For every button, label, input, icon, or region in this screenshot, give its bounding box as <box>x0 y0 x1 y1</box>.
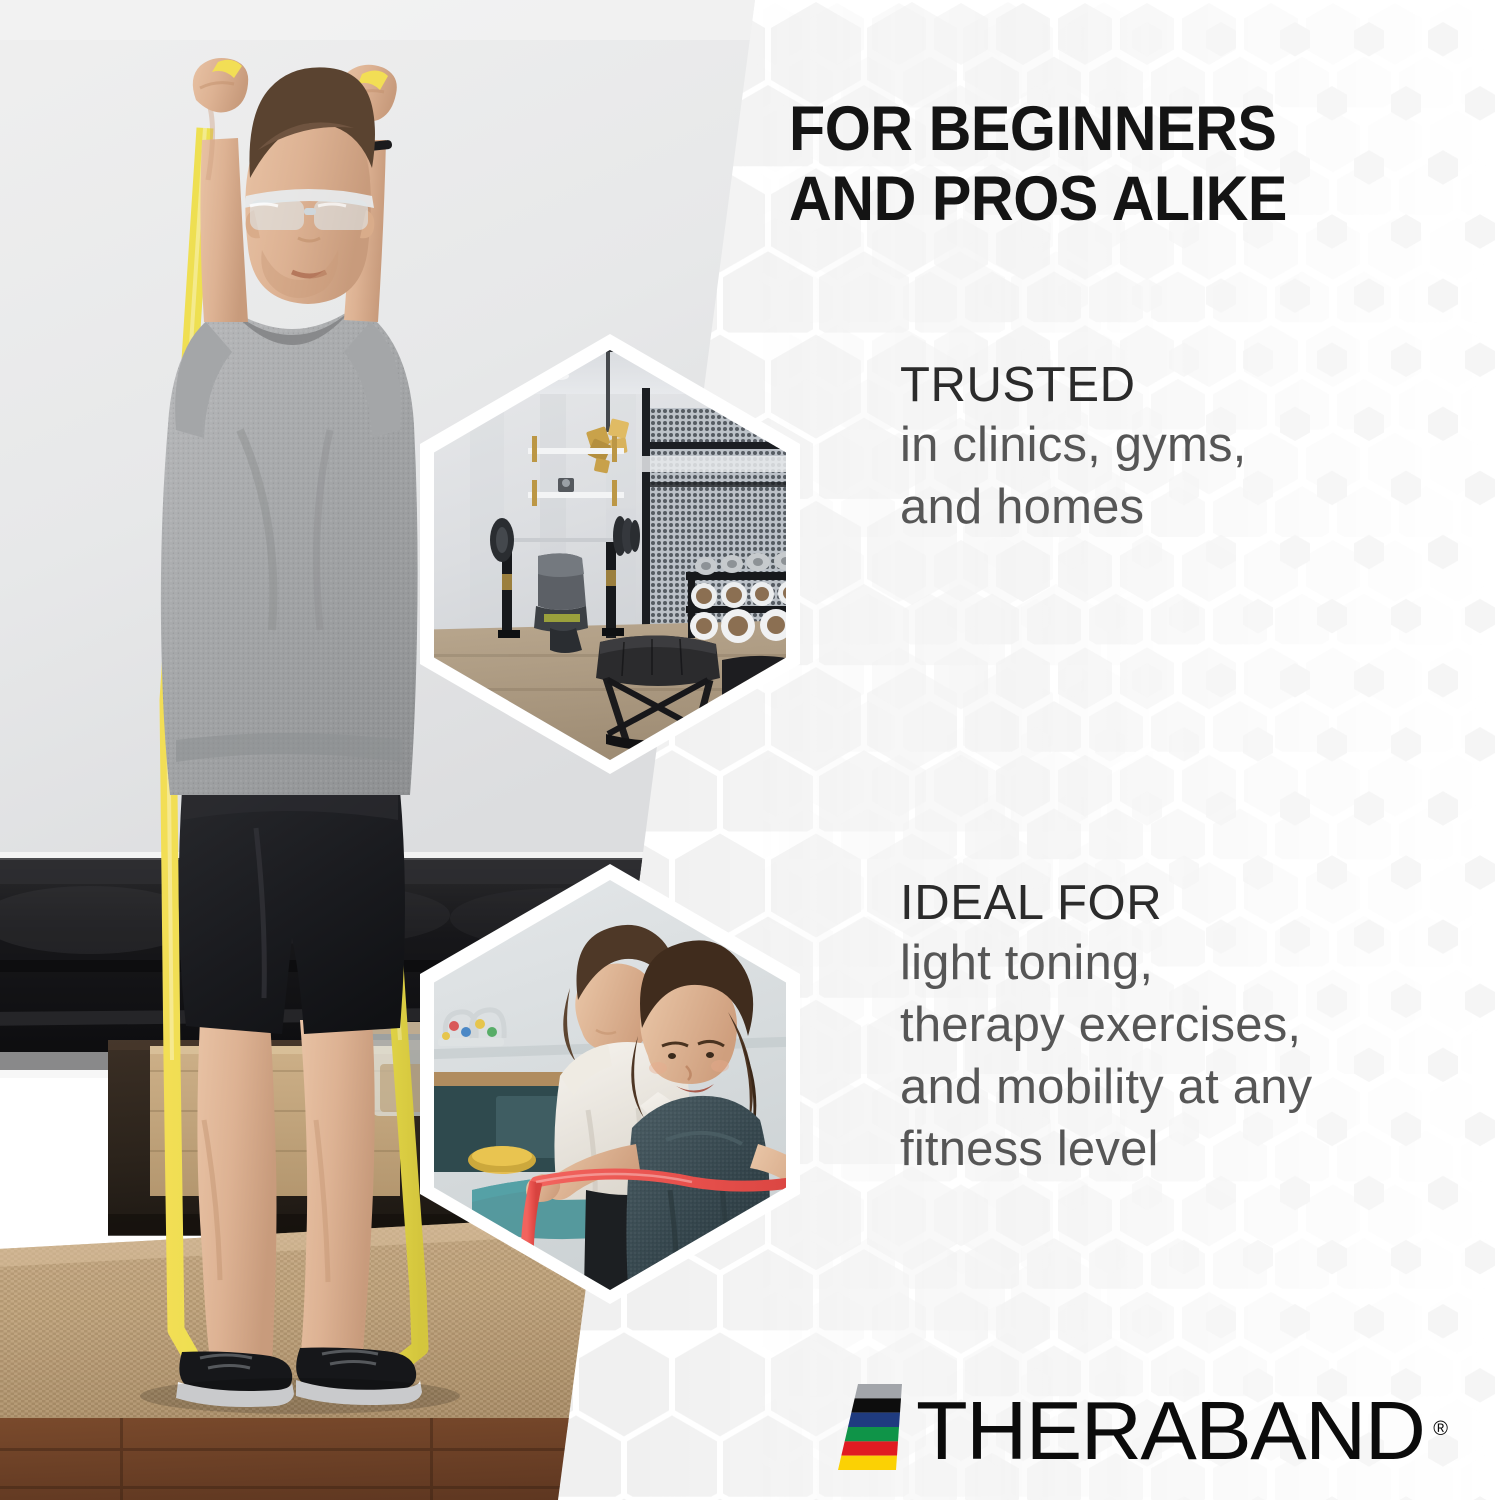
feature-block-trusted: TRUSTED in clinics, gyms, and homes <box>900 356 1246 538</box>
logo-wordmark: THERABAND ® <box>916 1392 1424 1470</box>
feature-title: IDEAL FOR <box>900 874 1312 932</box>
feature-description: in clinics, gyms, and homes <box>900 414 1246 538</box>
feature-image-trusted <box>410 330 810 775</box>
logo-stripe-silver <box>855 1384 902 1398</box>
feature-block-ideal-for: IDEAL FOR light toning, therapy exercise… <box>900 874 1312 1180</box>
feature-image-ideal-for <box>410 860 810 1305</box>
logo-wordmark-text: THERABAND <box>916 1384 1424 1477</box>
logo-stripe-black <box>851 1398 901 1412</box>
left-fist <box>193 58 248 112</box>
feature-description: light toning, therapy exercises, and mob… <box>900 932 1312 1180</box>
logo-stripe-red <box>841 1441 898 1455</box>
logo-stripe-blue <box>848 1413 900 1427</box>
head <box>244 67 375 304</box>
logo-stripe-green <box>845 1427 899 1441</box>
logo-stripe-bar <box>836 1384 912 1470</box>
theraband-logo: THERABAND ® <box>836 1378 1416 1470</box>
logo-stripe-yellow <box>838 1456 897 1470</box>
page-title: FOR BEGINNERS AND PROS ALIKE <box>789 94 1409 234</box>
feature-title: TRUSTED <box>900 356 1246 414</box>
poster-canvas: FOR BEGINNERS AND PROS ALIKE <box>0 0 1500 1500</box>
registered-trademark-icon: ® <box>1433 1390 1448 1468</box>
